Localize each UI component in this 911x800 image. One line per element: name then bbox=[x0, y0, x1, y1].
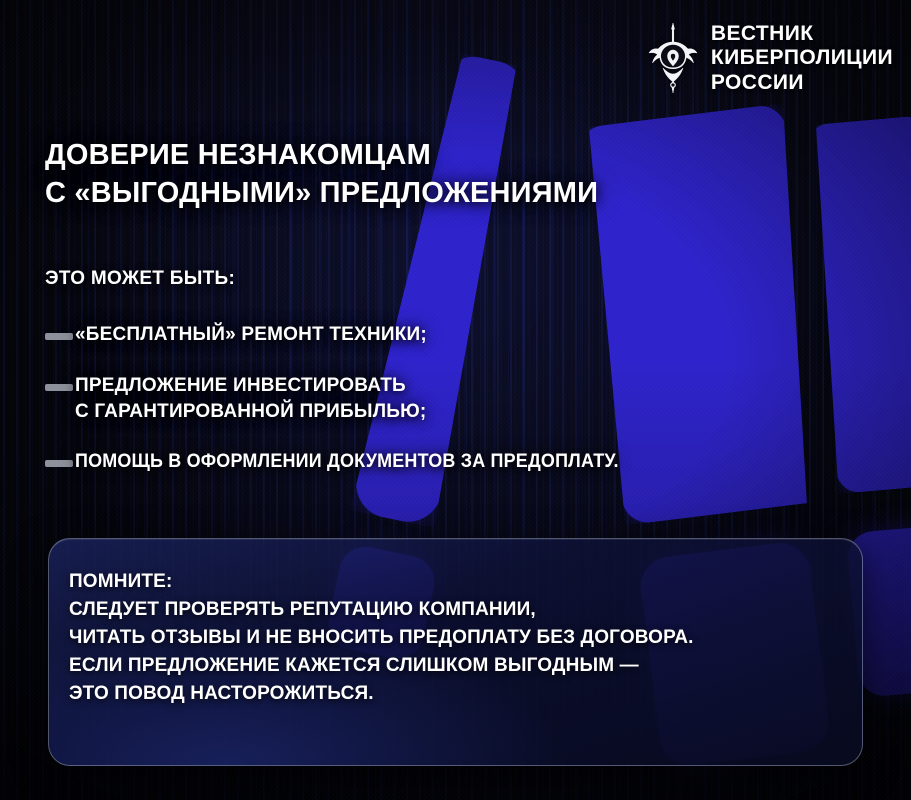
poster-canvas: ВЕСТНИК КИБЕРПОЛИЦИИ РОССИИ ДОВЕРИЕ НЕЗН… bbox=[0, 0, 911, 800]
mvd-emblem-icon bbox=[648, 22, 698, 94]
advisory-line-1: ПОМНИТЕ: bbox=[69, 568, 848, 596]
list-item: ПОМОЩЬ В ОФОРМЛЕНИИ ДОКУМЕНТОВ ЗА ПРЕДОП… bbox=[45, 449, 875, 475]
advisory-card: ПОМНИТЕ: СЛЕДУЕТ ПРОВЕРЯТЬ РЕПУТАЦИЮ КОМ… bbox=[48, 538, 863, 766]
list-item-text: «БЕСПЛАТНЫЙ» РЕМОНТ ТЕХНИКИ; bbox=[75, 322, 427, 348]
list-item: «БЕСПЛАТНЫЙ» РЕМОНТ ТЕХНИКИ; bbox=[45, 322, 875, 348]
brand-title: ВЕСТНИК КИБЕРПОЛИЦИИ РОССИИ bbox=[711, 22, 893, 95]
page-title-line-2: С «ВЫГОДНЫМИ» ПРЕДЛОЖЕНИЯМИ bbox=[45, 174, 598, 212]
advisory-line-2: СЛЕДУЕТ ПРОВЕРЯТЬ РЕПУТАЦИЮ КОМПАНИИ, bbox=[69, 596, 848, 624]
brand-line-1: ВЕСТНИК bbox=[711, 22, 893, 46]
advisory-line-5: ЭТО ПОВОД НАСТОРОЖИТЬСЯ. bbox=[69, 680, 848, 708]
list-item: ПРЕДЛОЖЕНИЕ ИНВЕСТИРОВАТЬ С ГАРАНТИРОВАН… bbox=[45, 373, 875, 425]
lead-text: ЭТО МОЖЕТ БЫТЬ: bbox=[45, 268, 235, 290]
dash-bullet-icon bbox=[45, 460, 73, 467]
list-item-line: С ГАРАНТИРОВАННОЙ ПРИБЫЛЬЮ; bbox=[75, 399, 426, 425]
brand-header: ВЕСТНИК КИБЕРПОЛИЦИИ РОССИИ bbox=[648, 22, 893, 95]
list-item-line: ПОМОЩЬ В ОФОРМЛЕНИИ ДОКУМЕНТОВ ЗА ПРЕДОП… bbox=[75, 449, 619, 475]
advisory-line-3: ЧИТАТЬ ОТЗЫВЫ И НЕ ВНОСИТЬ ПРЕДОПЛАТУ БЕ… bbox=[69, 624, 848, 652]
advisory-card-text: ПОМНИТЕ: СЛЕДУЕТ ПРОВЕРЯТЬ РЕПУТАЦИЮ КОМ… bbox=[69, 568, 848, 708]
advisory-line-4: ЕСЛИ ПРЕДЛОЖЕНИЕ КАЖЕТСЯ СЛИШКОМ ВЫГОДНЫ… bbox=[69, 652, 848, 680]
page-title: ДОВЕРИЕ НЕЗНАКОМЦАМ С «ВЫГОДНЫМИ» ПРЕДЛО… bbox=[45, 136, 598, 213]
brand-line-2: КИБЕРПОЛИЦИИ bbox=[711, 46, 893, 70]
bullet-list: «БЕСПЛАТНЫЙ» РЕМОНТ ТЕХНИКИ; ПРЕДЛОЖЕНИЕ… bbox=[45, 322, 875, 475]
page-title-line-1: ДОВЕРИЕ НЕЗНАКОМЦАМ bbox=[45, 136, 598, 174]
list-item-line: «БЕСПЛАТНЫЙ» РЕМОНТ ТЕХНИКИ; bbox=[75, 322, 427, 348]
dash-bullet-icon bbox=[45, 333, 73, 340]
list-item-line: ПРЕДЛОЖЕНИЕ ИНВЕСТИРОВАТЬ bbox=[75, 373, 426, 399]
dash-bullet-icon bbox=[45, 384, 73, 391]
brand-line-3: РОССИИ bbox=[711, 71, 893, 95]
list-item-text: ПРЕДЛОЖЕНИЕ ИНВЕСТИРОВАТЬ С ГАРАНТИРОВАН… bbox=[75, 373, 426, 425]
list-item-text: ПОМОЩЬ В ОФОРМЛЕНИИ ДОКУМЕНТОВ ЗА ПРЕДОП… bbox=[75, 449, 619, 475]
